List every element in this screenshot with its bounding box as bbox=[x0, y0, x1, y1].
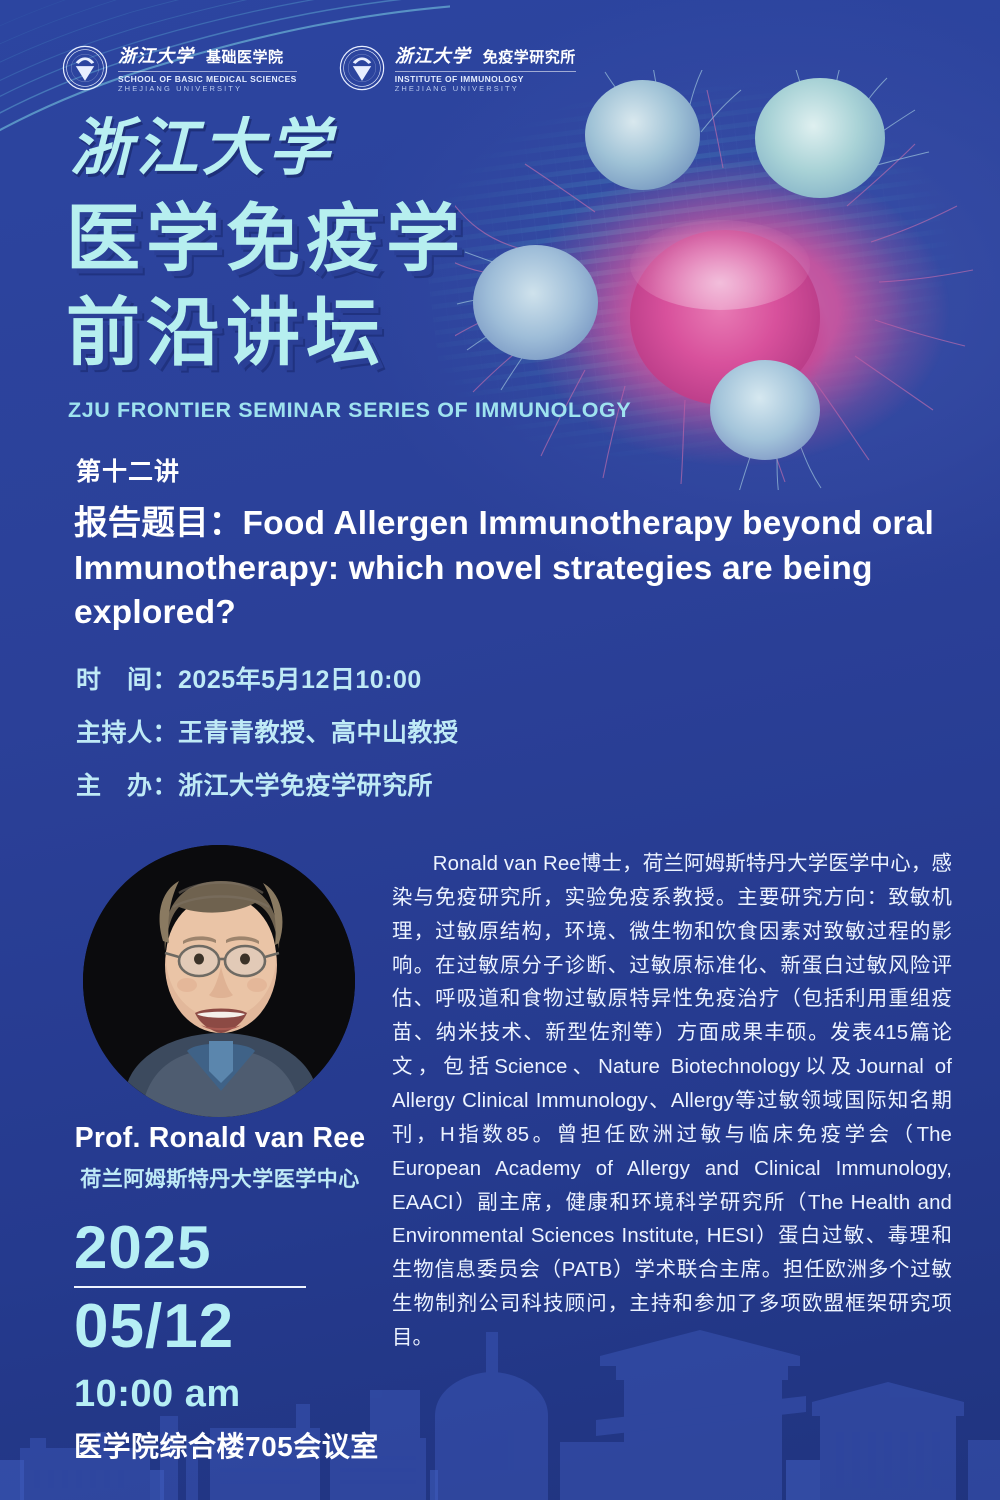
portrait-illustration bbox=[83, 845, 355, 1117]
logo-cn-mark: 浙江大学 bbox=[395, 42, 471, 68]
logo-institute-of-immunology: 浙江大学 免疫学研究所 INSTITUTE OF IMMUNOLOGY ZHEJ… bbox=[339, 42, 576, 93]
cell-nucleus-highlight bbox=[630, 220, 810, 310]
event-time: 10:00 am bbox=[74, 1373, 324, 1416]
talk-title: 报告题目：Food Allergen Immunotherapy beyond … bbox=[74, 502, 954, 636]
cell-filopodia bbox=[455, 70, 1000, 490]
event-date-block: 2025 05/12 10:00 am bbox=[74, 1218, 324, 1416]
meta-time: 时 间：2025年5月12日10:00 bbox=[76, 660, 422, 696]
lymphocyte-4 bbox=[710, 360, 820, 460]
speaker-portrait bbox=[83, 845, 355, 1117]
logo-en-university: ZHEJIANG UNIVERSITY bbox=[118, 84, 297, 93]
meta-organizer: 主 办：浙江大学免疫学研究所 bbox=[76, 766, 433, 802]
masthead-subtitle-en: ZJU FRONTIER SEMINAR SERIES OF IMMUNOLOG… bbox=[68, 398, 631, 423]
logo-cn-unit: 基础医学院 bbox=[206, 46, 284, 67]
event-venue: 医学院综合楼705会议室 bbox=[74, 1425, 379, 1465]
meta-time-label: 时 间： bbox=[76, 666, 178, 694]
cell-nucleus bbox=[630, 230, 820, 405]
lecture-number: 第十二讲 bbox=[76, 452, 180, 488]
seminar-poster: 浙江大学 基础医学院 SCHOOL OF BASIC MEDICAL SCIEN… bbox=[0, 0, 1000, 1500]
masthead-line-1: 医学免疫学 bbox=[66, 202, 466, 276]
lymphocyte-2 bbox=[755, 78, 885, 198]
lymphocyte-3 bbox=[473, 245, 598, 360]
date-divider bbox=[74, 1286, 306, 1288]
meta-host-value: 王青青教授、高中山教授 bbox=[178, 719, 459, 747]
meta-host-label: 主持人： bbox=[76, 719, 178, 747]
immune-cell-micrograph bbox=[455, 70, 1000, 490]
dash-grid-pattern bbox=[406, 25, 1000, 525]
meta-host: 主持人：王青青教授、高中山教授 bbox=[76, 713, 459, 749]
logo-en-unit: SCHOOL OF BASIC MEDICAL SCIENCES bbox=[118, 71, 297, 84]
logo-cn-mark: 浙江大学 bbox=[118, 42, 194, 68]
speaker-bio: Ronald van Ree博士，荷兰阿姆斯特丹大学医学中心，感染与免疫研究所，… bbox=[392, 848, 952, 1356]
masthead-calligraphy: 浙江大学 bbox=[70, 118, 334, 180]
meta-time-value: 2025年5月12日10:00 bbox=[178, 666, 422, 694]
meta-organizer-label: 主 办： bbox=[76, 772, 178, 800]
lymphocyte-1 bbox=[585, 80, 700, 190]
logo-en-unit: INSTITUTE OF IMMUNOLOGY bbox=[395, 71, 576, 84]
logo-en-university: ZHEJIANG UNIVERSITY bbox=[395, 84, 576, 93]
zhejiang-university-seal-icon bbox=[339, 45, 385, 91]
masthead-line-2: 前沿讲坛 bbox=[66, 296, 386, 370]
zhejiang-university-seal-icon bbox=[62, 45, 108, 91]
event-year: 2025 bbox=[74, 1218, 324, 1278]
logo-row: 浙江大学 基础医学院 SCHOOL OF BASIC MEDICAL SCIEN… bbox=[62, 42, 576, 93]
logo-school-of-basic-medical-sciences: 浙江大学 基础医学院 SCHOOL OF BASIC MEDICAL SCIEN… bbox=[62, 42, 297, 93]
speaker-name: Prof. Ronald van Ree bbox=[0, 1122, 440, 1155]
logo-cn-unit: 免疫学研究所 bbox=[483, 46, 576, 67]
speaker-affiliation: 荷兰阿姆斯特丹大学医学中心 bbox=[0, 1163, 440, 1193]
event-month-day: 05/12 bbox=[74, 1294, 324, 1359]
meta-organizer-value: 浙江大学免疫学研究所 bbox=[178, 772, 433, 800]
